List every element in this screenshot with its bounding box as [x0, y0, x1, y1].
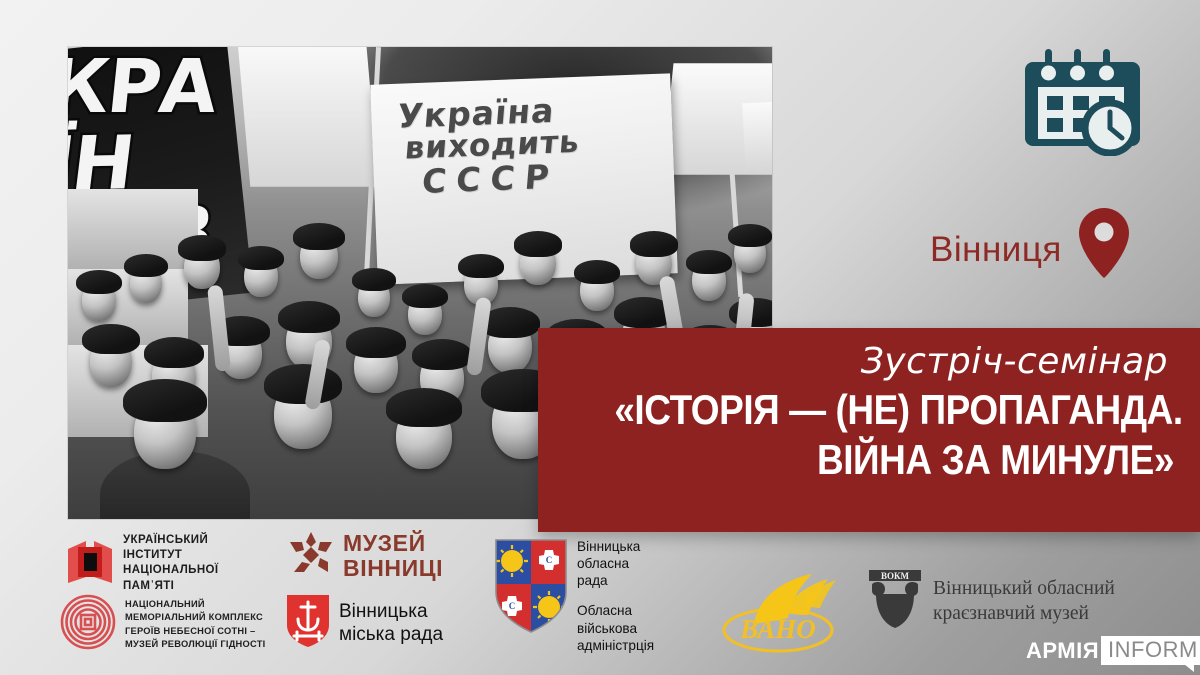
city-council-label: Вінницька міська рада: [339, 601, 443, 646]
watermark-inform: INFORM: [1101, 636, 1200, 665]
partner-logo-strip: УКРАЇНСЬКИЙ ІНСТИТУТ НАЦІОНАЛЬНОЇ ПАМ᾿ЯТ…: [0, 524, 1200, 675]
event-title-banner: Зустріч-семінар «ІСТОРІЯ — (НЕ) ПРОПАГАН…: [538, 328, 1200, 532]
uinp-red-book-icon: [66, 537, 114, 590]
logo-museum-vinnytsia: МУЗЕЙ ВІННИЦІ: [288, 530, 443, 581]
svg-text:C: C: [546, 555, 553, 565]
svg-text:C: C: [509, 601, 516, 611]
armyinform-watermark: АРМІЯ INFORM: [1026, 636, 1200, 665]
logo-vano: ВАНО: [720, 572, 848, 661]
vano-wordmark: ВАНО: [739, 614, 816, 644]
location-row: Вінниця: [930, 215, 1150, 285]
vano-flame-icon: ВАНО: [720, 572, 848, 661]
logo-vinnytsia-city-council: Вінницька міська рада: [286, 594, 443, 653]
left-banner-line1: КРА: [68, 47, 220, 130]
logo-nmk-nebesna-sotnia: НАЦІОНАЛЬНИЙ МЕМОРІАЛЬНИЙ КОМПЛЕКС ГЕРОЇ…: [60, 594, 266, 655]
museum-star-icon: [288, 530, 334, 581]
vokm-column-icon: ВОКМ: [866, 568, 924, 635]
map-pin-icon: [1076, 206, 1132, 285]
city-label: Вінниця: [930, 230, 1062, 270]
event-title-line1: «ІСТОРІЯ — (НЕ) ПРОПАГАНДА.: [614, 388, 1174, 433]
museum-vinnytsia-label: МУЗЕЙ ВІННИЦІ: [343, 531, 443, 580]
nmk-label: НАЦІОНАЛЬНИЙ МЕМОРІАЛЬНИЙ КОМПЛЕКС ГЕРОЇ…: [125, 598, 266, 651]
event-title-line2: ВІЙНА ЗА МИНУЛЕ»: [614, 438, 1174, 483]
white-flag: [742, 99, 772, 174]
poster-canvas: КРА ЇН СУВ Україна виходить СССР: [0, 0, 1200, 675]
logo-vinnytsia-oblast: CC Вінницька обласна рада Обласна військ…: [494, 538, 654, 654]
watermark-armiya: АРМІЯ: [1026, 638, 1099, 664]
vokm-abbr: ВОКМ: [881, 571, 910, 581]
white-flag: [237, 47, 379, 187]
vinnytsia-oblast-shield-icon: CC: [494, 538, 568, 639]
vokm-label: Вінницький обласний краєзнавчий музей: [933, 577, 1115, 625]
vinnytsia-coat-of-arms-icon: [286, 594, 330, 653]
calendar-clock-icon: [1022, 44, 1140, 156]
nebesna-sotnia-spiral-icon: [60, 594, 116, 655]
oblast-labels: Вінницька обласна рада Обласна військова…: [577, 538, 654, 654]
uinp-label: УКРАЇНСЬКИЙ ІНСТИТУТ НАЦІОНАЛЬНОЇ ПАМ᾿ЯТ…: [123, 533, 218, 594]
event-kicker: Зустріч-семінар: [538, 342, 1174, 382]
logo-uinp: УКРАЇНСЬКИЙ ІНСТИТУТ НАЦІОНАЛЬНОЇ ПАМ᾿ЯТ…: [66, 533, 218, 594]
logo-vokm: ВОКМ Вінницький обласний краєзнавчий муз…: [866, 568, 1115, 635]
